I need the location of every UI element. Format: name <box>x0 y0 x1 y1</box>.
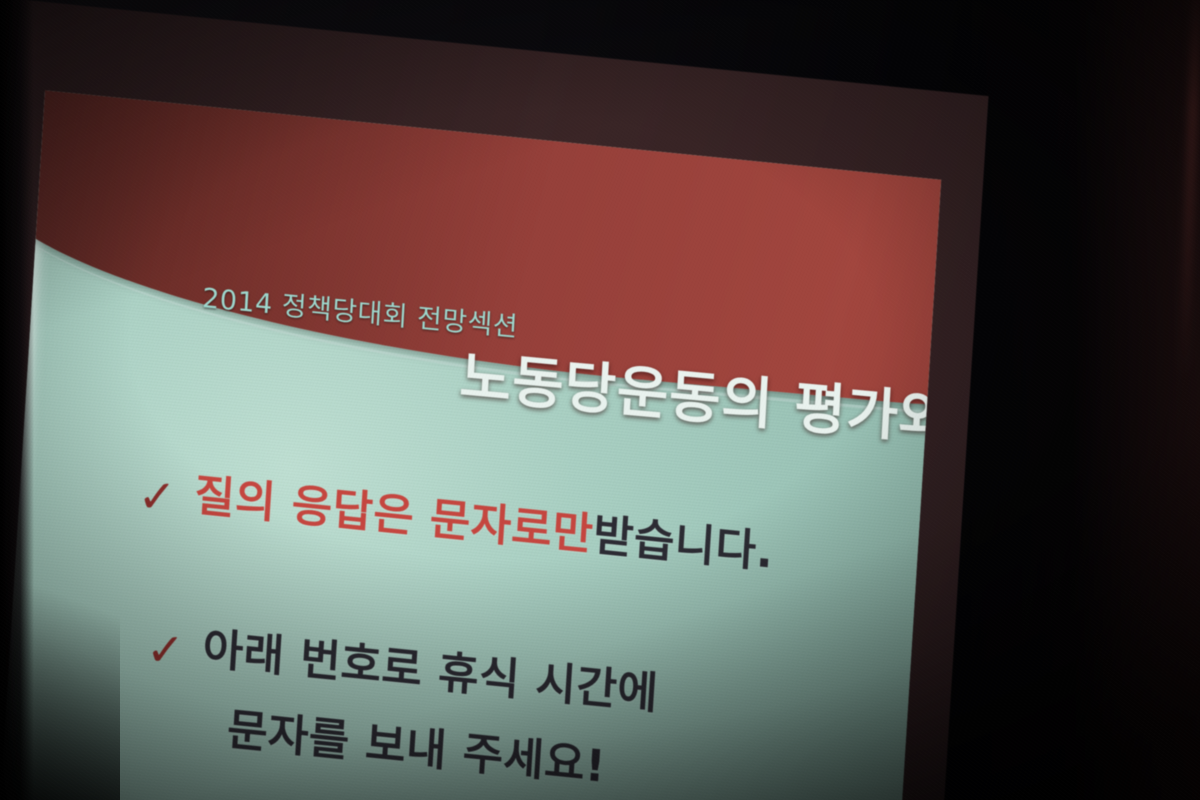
check-mark-icon: ✓ <box>146 626 185 674</box>
projection-screen: 2014 정책당대회 전망섹션 노동당운동의 평가와 전망 ✓질의 응답은 문자… <box>0 0 1045 800</box>
check-mark-icon: ✓ <box>138 472 177 520</box>
projected-slide-photograph: 2014 정책당대회 전망섹션 노동당운동의 평가와 전망 ✓질의 응답은 문자… <box>0 0 1200 800</box>
slide-surface: 2014 정책당대회 전망섹션 노동당운동의 평가와 전망 ✓질의 응답은 문자… <box>0 90 941 800</box>
